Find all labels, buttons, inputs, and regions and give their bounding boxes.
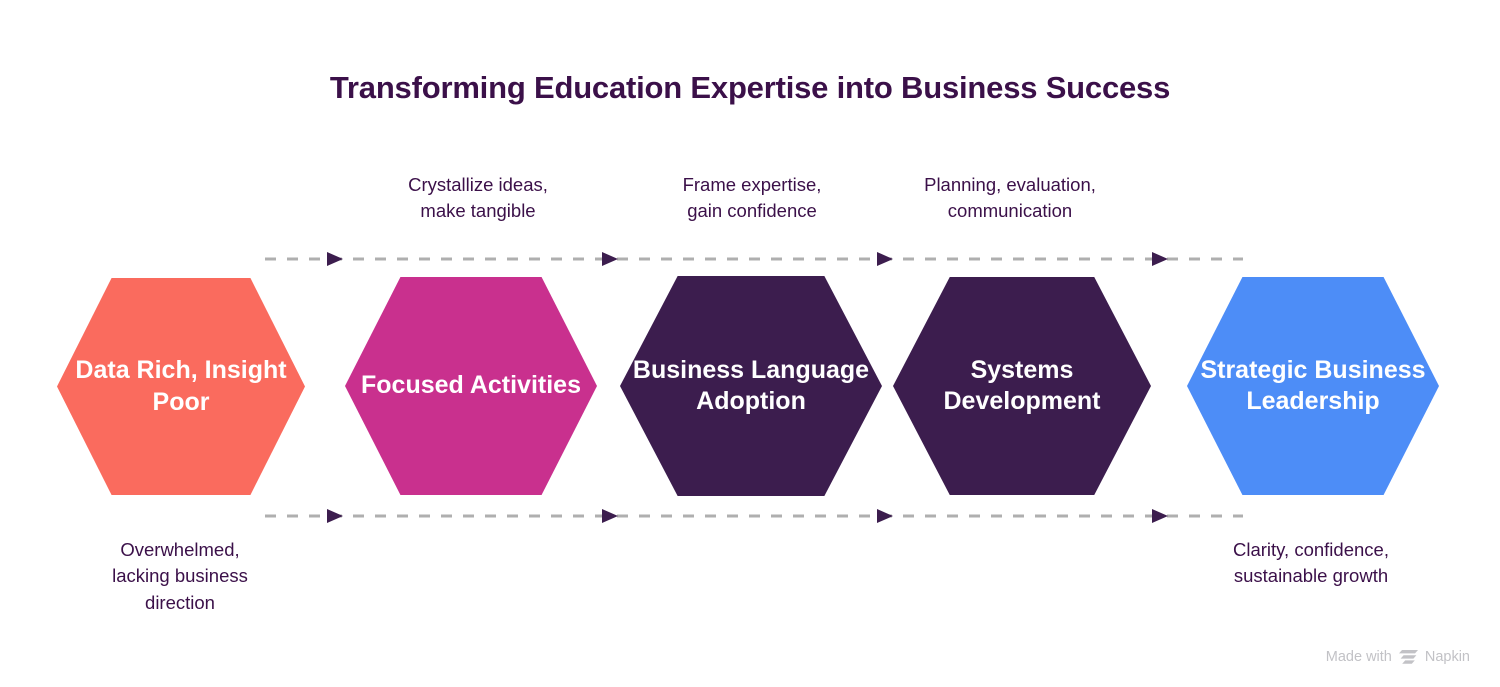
caption-bottom-1: Overwhelmed, lacking business direction (55, 537, 305, 616)
stage-hexagon-2[interactable]: Focused Activities (345, 277, 597, 495)
stage-label-2: Focused Activities (357, 370, 585, 402)
napkin-watermark[interactable]: Made with Napkin (1326, 649, 1470, 665)
watermark-made-with-text: Made with (1326, 649, 1392, 665)
stage-label-4: Systems Development (893, 355, 1151, 418)
caption-top-3: Planning, evaluation, communication (885, 172, 1135, 225)
caption-top-1: Crystallize ideas, make tangible (353, 172, 603, 225)
connector-rail-bottom (265, 509, 1243, 523)
arrowhead-icon (602, 252, 618, 266)
stage-hexagon-5[interactable]: Strategic Business Leadership (1187, 277, 1439, 495)
arrowhead-icon (877, 509, 893, 523)
caption-bottom-2: Clarity, confidence, sustainable growth (1186, 537, 1436, 590)
diagram-canvas: Transforming Education Expertise into Bu… (0, 0, 1500, 687)
page-title: Transforming Education Expertise into Bu… (0, 70, 1500, 106)
watermark-brand-text: Napkin (1425, 649, 1470, 665)
stage-label-5: Strategic Business Leadership (1187, 355, 1439, 418)
arrowhead-icon (602, 509, 618, 523)
napkin-logo-icon (1399, 650, 1418, 665)
stage-hexagon-4[interactable]: Systems Development (893, 277, 1151, 495)
stage-label-1: Data Rich, Insight Poor (57, 355, 305, 418)
stage-hexagon-3[interactable]: Business Language Adoption (620, 276, 882, 496)
arrowhead-icon (877, 252, 893, 266)
arrowhead-icon (327, 509, 343, 523)
stage-hexagon-1[interactable]: Data Rich, Insight Poor (57, 278, 305, 495)
arrowhead-icon (1152, 509, 1168, 523)
arrowhead-icon (1152, 252, 1168, 266)
arrowhead-icon (327, 252, 343, 266)
stage-label-3: Business Language Adoption (620, 355, 882, 418)
connector-rail-top (265, 252, 1243, 266)
caption-top-2: Frame expertise, gain confidence (627, 172, 877, 225)
